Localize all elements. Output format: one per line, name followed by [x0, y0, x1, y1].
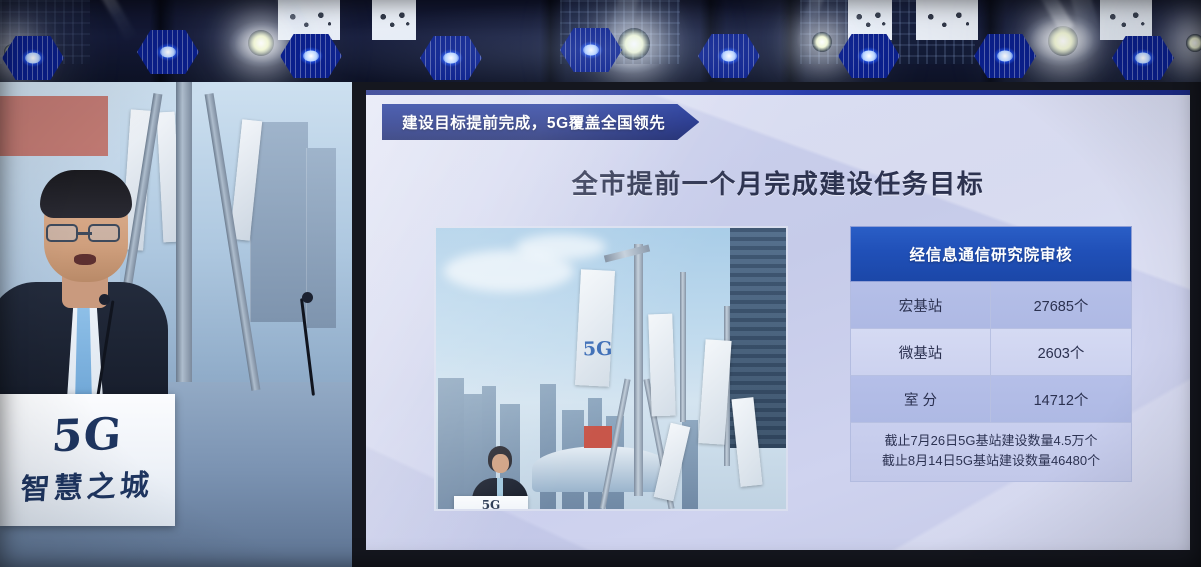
audit-table-header: 经信息通信研究院审核	[850, 226, 1132, 282]
hex-led-light	[280, 34, 342, 78]
slide-banner: 建设目标提前完成，5G覆盖全国领先	[382, 104, 699, 140]
speaker-hair	[40, 170, 132, 218]
backdrop-tower-leg	[176, 82, 192, 382]
speaker-glasses-bridge	[78, 232, 92, 235]
photo-speaker-face	[492, 454, 509, 473]
table-cell-label: 室 分	[851, 376, 991, 422]
stage-glyph-tile	[916, 0, 978, 40]
slide-banner-label: 建设目标提前完成，5G覆盖全国领先	[402, 111, 665, 133]
light-beam	[93, 0, 137, 42]
table-row: 宏基站 27685个	[850, 282, 1132, 329]
table-row: 室 分 14712个	[850, 376, 1132, 423]
audit-note-line: 截止7月26日5G基站建设数量4.5万个	[857, 431, 1125, 451]
podium-sign-line2: 智慧之城	[20, 462, 155, 509]
slide-top-accent-line	[366, 90, 1190, 95]
microphone-head	[99, 294, 110, 305]
photo-dome-structure	[532, 446, 672, 492]
photo-antenna-badge: 5G	[583, 338, 613, 361]
table-cell-value: 2603个	[991, 329, 1131, 375]
audit-table-header-label: 经信息通信研究院审核	[909, 243, 1072, 265]
podium-sign-line1: 5G	[51, 413, 125, 459]
slide-title: 全市提前一个月完成建设任务目标	[366, 164, 1190, 201]
hex-led-light	[137, 30, 199, 74]
presentation-slide: 建设目标提前完成，5G覆盖全国领先 全市提前一个月完成建设任务目标	[366, 90, 1190, 550]
slide-photo: 5G 5G 智慧之城	[434, 226, 788, 511]
backdrop-red-accent	[0, 96, 108, 156]
audit-table-notes: 截止7月26日5G基站建设数量4.5万个 截止8月14日5G基站建设数量4648…	[850, 423, 1132, 482]
hex-led-light	[2, 36, 64, 80]
photo-tower-mast	[634, 244, 643, 496]
left-video-panel: 5G 智慧之城	[0, 82, 352, 567]
stage-glyph-tile	[1100, 0, 1152, 40]
microphone-head	[302, 292, 313, 303]
table-cell-value: 27685个	[991, 282, 1131, 328]
table-cell-label: 微基站	[851, 329, 991, 375]
speaker-glasses-left	[46, 224, 78, 242]
speaker-glasses-right	[88, 224, 120, 242]
podium-sign: 5G 智慧之城	[0, 394, 175, 526]
photo-cloud	[516, 234, 606, 260]
photo-antenna-panel-5g: 5G	[575, 269, 615, 387]
audit-table: 经信息通信研究院审核 宏基站 27685个 微基站 2603个 室 分 1471…	[850, 226, 1132, 482]
hex-led-light	[698, 34, 760, 78]
photo-skyline-building	[438, 378, 464, 511]
table-cell-value: 14712个	[991, 376, 1131, 422]
presentation-screen-frame: 建设目标提前完成，5G覆盖全国领先 全市提前一个月完成建设任务目标	[352, 82, 1201, 567]
photo-inset-podium: 5G 智慧之城	[454, 496, 528, 511]
stage-lighting-band	[0, 0, 1201, 82]
speaker-mouth	[74, 254, 96, 265]
hex-led-light	[838, 34, 900, 78]
photo-tower-mast	[680, 272, 686, 422]
broadcast-frame: 5G 智慧之城 建设目标提前完成，5G覆盖全国领先 全市提前一个月完成建设任务目…	[0, 0, 1201, 567]
stage-glyph-tile	[372, 0, 416, 40]
hex-led-light	[420, 36, 482, 80]
audit-note-line: 截止8月14日5G基站建设数量46480个	[857, 451, 1125, 471]
photo-red-roof	[584, 426, 612, 448]
photo-inset-podium-line1: 5G	[454, 499, 528, 511]
hex-led-light	[1112, 36, 1174, 80]
photo-antenna-panel	[648, 314, 676, 417]
hex-led-light	[560, 28, 622, 72]
table-cell-label: 宏基站	[851, 282, 991, 328]
hex-led-light	[974, 34, 1036, 78]
table-row: 微基站 2603个	[850, 329, 1132, 376]
